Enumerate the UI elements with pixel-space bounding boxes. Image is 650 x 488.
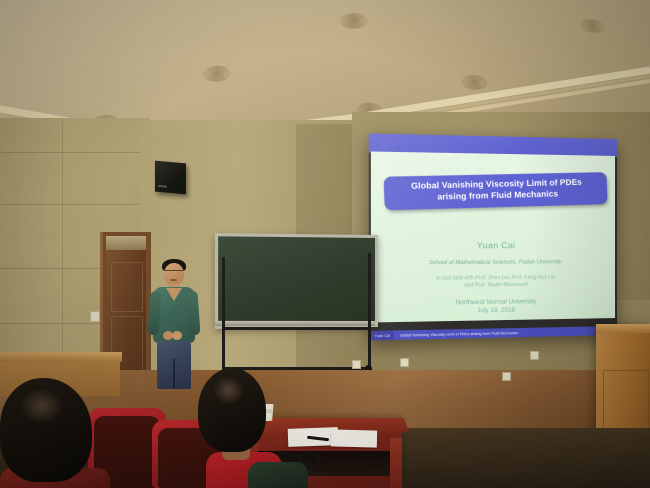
slide-joint-work: In part joint with Prof. Zhen Lei, Prof.… [371, 274, 615, 291]
slide-affiliation: School of Mathematical Sciences, Fudan U… [371, 259, 615, 267]
slide-author: Yuan Cai [371, 240, 615, 251]
presentation-slide: Global Vanishing Viscosity Limit of PDEs… [371, 151, 615, 322]
status-bar-title: Global Vanishing Viscosity Limit of PDEs… [393, 331, 518, 338]
attendee-head [0, 378, 92, 482]
attendee-shoulders [248, 462, 308, 488]
slide-venue-block: Northwest Normal University July 18, 201… [371, 297, 615, 317]
presenter-hand-right [172, 331, 182, 340]
presenter-leg-split [173, 359, 175, 389]
presenter [148, 259, 200, 389]
wall-outlet [352, 360, 361, 369]
chalkboard-crossbar-upper [222, 327, 370, 330]
chalkboard-chalk-tray [215, 321, 375, 326]
wall-speaker-icon [155, 161, 186, 195]
chalkboard-leg-right [368, 253, 371, 367]
slide-title-band: Global Vanishing Viscosity Limit of PDEs… [384, 172, 608, 210]
slide-joint-line-2: and Prof. Nader Masmoudi [371, 281, 615, 291]
eyeglasses-icon [165, 270, 183, 275]
side-counter-top [0, 352, 122, 362]
wall-outlet [400, 358, 409, 367]
wall-outlet [530, 351, 539, 360]
presenter-mouth [170, 279, 177, 281]
ceiling-downlight [340, 13, 368, 28]
lecture-hall-photo: Global Vanishing Viscosity Limit of PDEs… [0, 0, 650, 488]
chalkboard-leg-left [222, 257, 225, 377]
attendee-head [198, 368, 266, 452]
lectern-top [596, 324, 650, 333]
mobile-chalkboard [212, 235, 380, 380]
wall-outlet [502, 372, 511, 381]
chalkboard-surface [215, 233, 378, 329]
door-window [106, 236, 146, 250]
light-switch[interactable] [90, 311, 100, 322]
presenter-arm-right [186, 291, 200, 336]
desk-side-right [390, 438, 402, 488]
paper-sheet [331, 429, 377, 447]
